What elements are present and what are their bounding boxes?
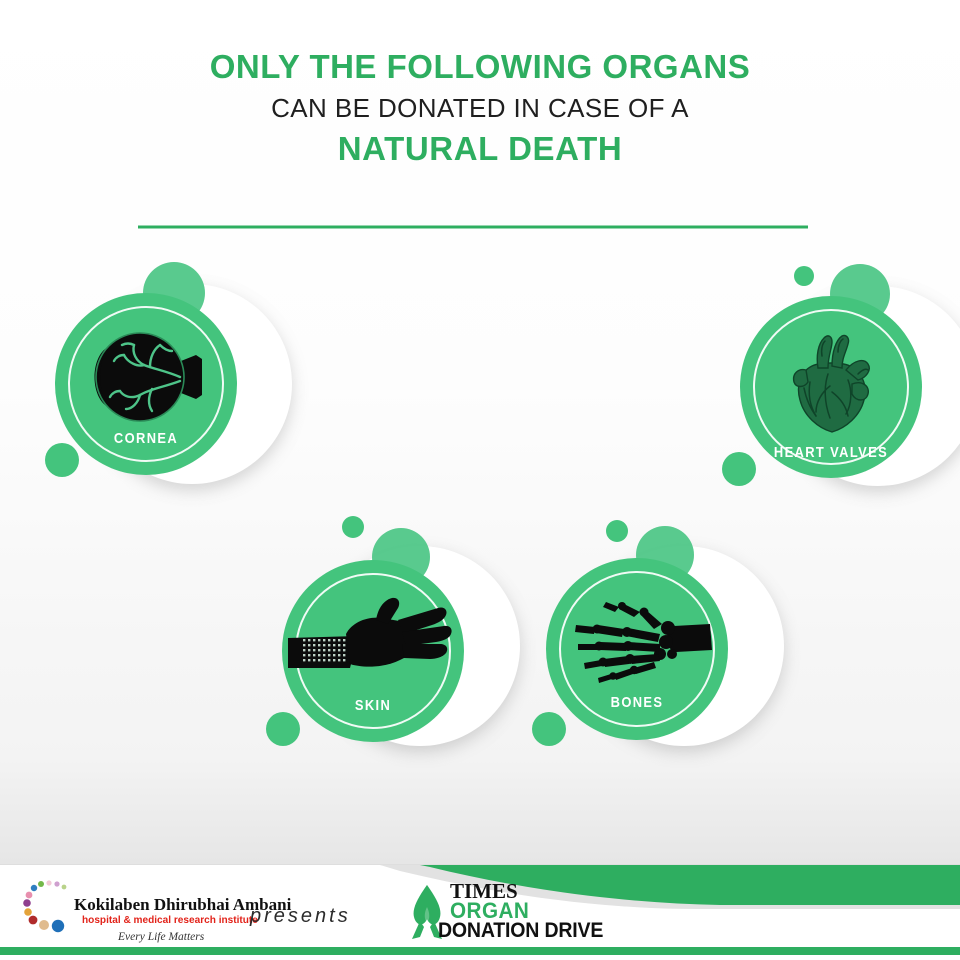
times-organ-donation-drive-logo: TIMES ORGAN DONATION DRIVE	[408, 879, 588, 945]
headline-line-1: ONLY THE FOLLOWING ORGANS	[0, 46, 960, 88]
organ-donation-infographic: ONLY THE FOLLOWING ORGANS CAN BE DONATED…	[0, 0, 960, 960]
node-cornea[interactable]: CORNEA	[40, 262, 300, 522]
footer-bar: Kokilaben Dhirubhai Ambani hospital & me…	[0, 864, 960, 960]
cornea-label: CORNEA	[68, 430, 225, 447]
kokilaben-tagline: Every Life Matters	[118, 931, 204, 943]
bones-accent-dot-bottom	[532, 712, 566, 746]
heart-inner-ring	[753, 309, 909, 465]
bones-label: BONES	[559, 694, 716, 711]
skin-label: SKIN	[295, 697, 452, 714]
footer-accent-bar	[0, 947, 960, 955]
donation-drive-word: DONATION DRIVE	[438, 919, 603, 943]
heart-valves-label: HEART VALVES	[753, 444, 910, 461]
skin-accent-dot-top	[342, 516, 364, 538]
headline-line-3: NATURAL DEATH	[0, 128, 960, 170]
node-bones[interactable]: BONES	[532, 520, 780, 772]
kokilaben-subtitle: hospital & medical research institute	[82, 914, 258, 926]
headline-block: ONLY THE FOLLOWING ORGANS CAN BE DONATED…	[0, 46, 960, 170]
skin-accent-dot-bottom	[266, 712, 300, 746]
heart-accent-dot-top	[794, 266, 814, 286]
cornea-accent-dot	[45, 443, 79, 477]
headline-line-2: CAN BE DONATED IN CASE OF A	[0, 88, 960, 128]
node-skin[interactable]: SKIN	[266, 512, 516, 772]
node-heart-valves[interactable]: HEART VALVES	[722, 262, 960, 524]
kokilaben-dots-icon	[22, 879, 74, 939]
kokilaben-hospital-logo: Kokilaben Dhirubhai Ambani hospital & me…	[22, 879, 232, 947]
presents-label: presents	[250, 905, 351, 928]
heart-accent-dot-bottom	[722, 452, 756, 486]
bones-accent-dot-top	[606, 520, 628, 542]
